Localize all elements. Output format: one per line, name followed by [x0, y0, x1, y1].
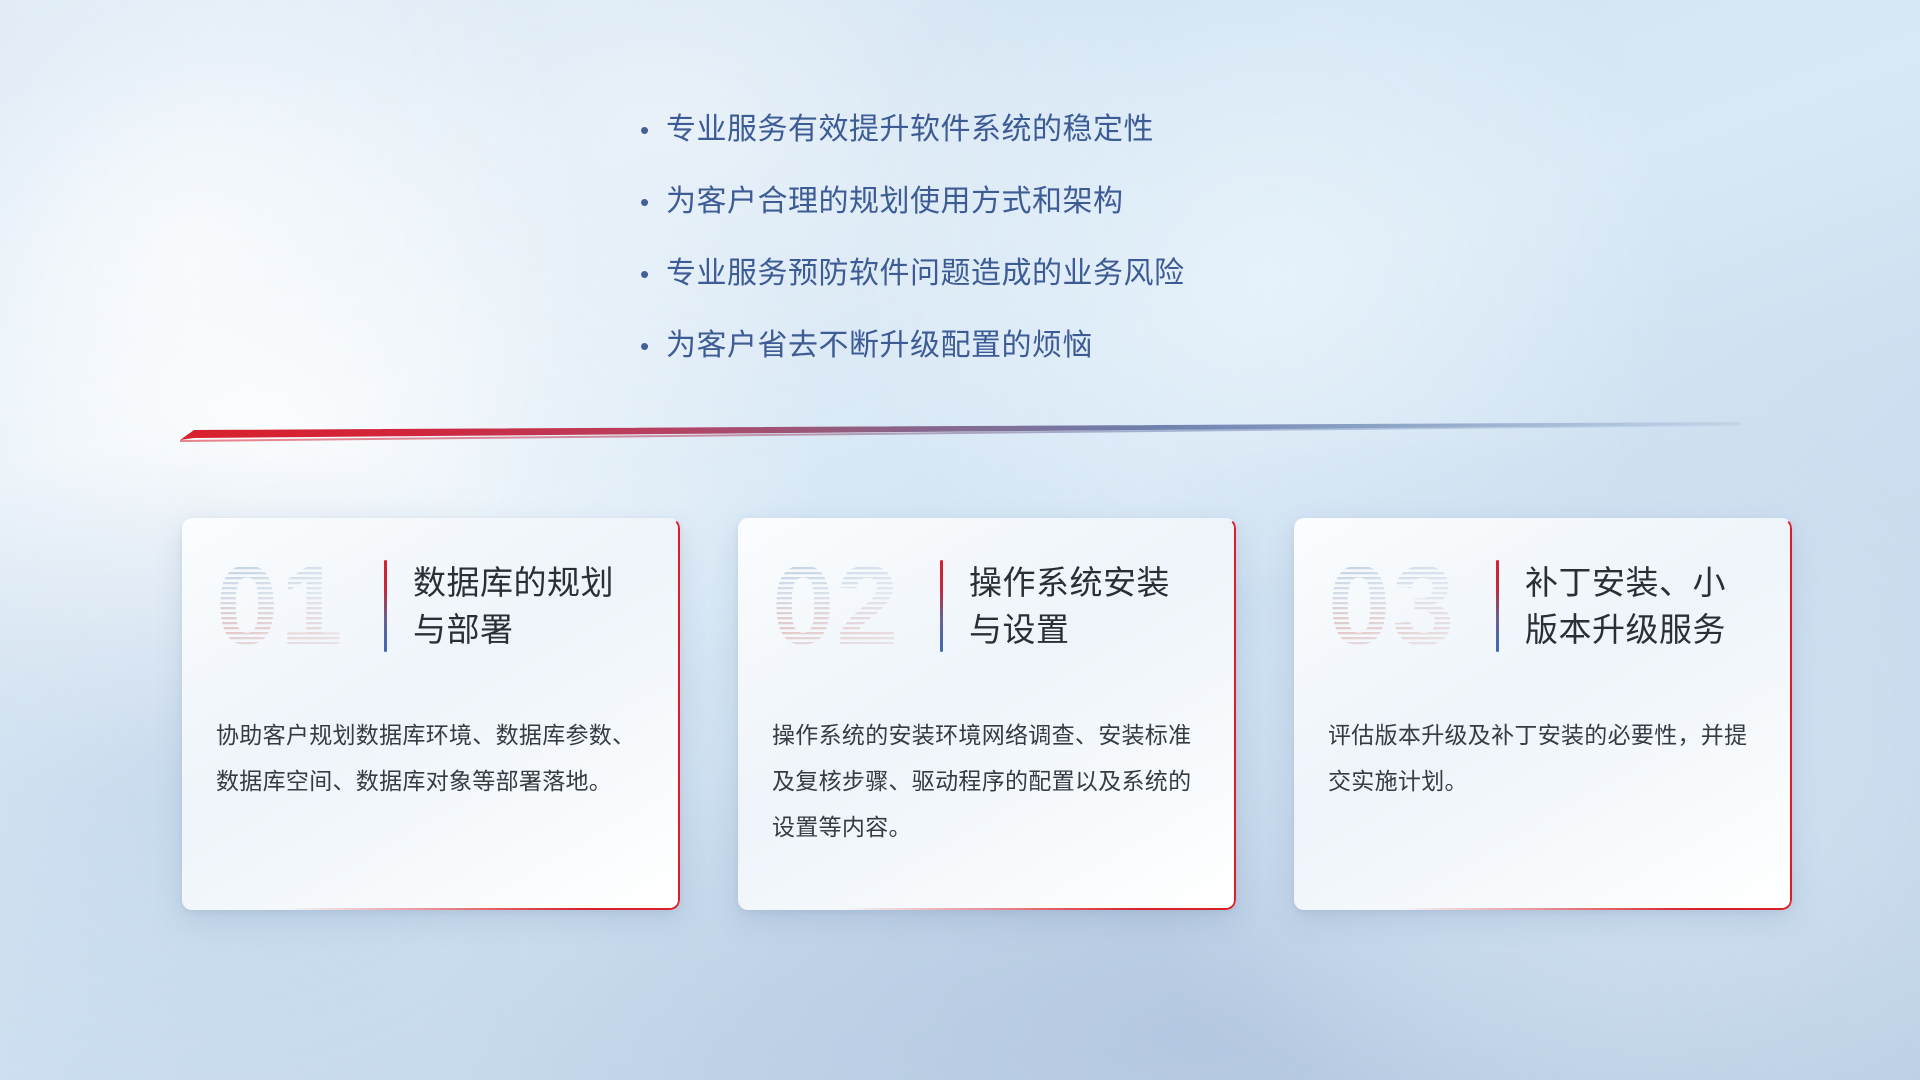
card-title: 数据库的规划 与部署: [413, 559, 614, 653]
service-card-03[interactable]: 03 补丁安装、小 版本升级服务 评估版本升级及补丁安装的必要性，并提交实施计划…: [1294, 518, 1792, 910]
card-gradient-bar: [940, 560, 943, 652]
card-description: 评估版本升级及补丁安装的必要性，并提交实施计划。: [1294, 712, 1792, 804]
svg-text:01: 01: [216, 552, 345, 660]
bullet-text-2: 为客户合理的规划使用方式和架构: [666, 180, 1124, 224]
card-title-line-2: 与部署: [413, 606, 614, 653]
list-item: • 为客户合理的规划使用方式和架构: [640, 180, 1460, 224]
service-card-list: 01 数据库的规划 与部署 协助客户规划数据库环境、数据库参数、数据库空间、数据…: [182, 518, 1792, 918]
benefits-bullet-list: • 专业服务有效提升软件系统的稳定性 • 为客户合理的规划使用方式和架构 • 专…: [640, 108, 1460, 396]
card-header: 03 补丁安装、小 版本升级服务: [1294, 518, 1792, 694]
card-title-line-1: 数据库的规划: [413, 559, 614, 606]
svg-text:02: 02: [772, 552, 901, 660]
svg-text:03: 03: [1328, 552, 1457, 660]
card-title-line-2: 版本升级服务: [1525, 606, 1726, 653]
card-title: 操作系统安装 与设置: [969, 559, 1170, 653]
service-card-01[interactable]: 01 数据库的规划 与部署 协助客户规划数据库环境、数据库参数、数据库空间、数据…: [182, 518, 680, 910]
card-title-line-2: 与设置: [969, 606, 1170, 653]
ghost-number-01-icon: 01: [216, 552, 368, 660]
bullet-text-3: 专业服务预防软件问题造成的业务风险: [666, 252, 1185, 296]
card-description: 协助客户规划数据库环境、数据库参数、数据库空间、数据库对象等部署落地。: [182, 712, 680, 804]
list-item: • 专业服务预防软件问题造成的业务风险: [640, 252, 1460, 296]
card-gradient-bar: [384, 560, 387, 652]
list-item: • 为客户省去不断升级配置的烦恼: [640, 324, 1460, 368]
bullet-text-4: 为客户省去不断升级配置的烦恼: [666, 324, 1093, 368]
ghost-number-03-icon: 03: [1328, 552, 1480, 660]
service-card-02[interactable]: 02 操作系统安装 与设置 操作系统的安装环境网络调查、安装标准及复核步骤、驱动…: [738, 518, 1236, 910]
card-title-line-1: 操作系统安装: [969, 559, 1170, 606]
slide-root: • 专业服务有效提升软件系统的稳定性 • 为客户合理的规划使用方式和架构 • 专…: [0, 0, 1920, 1080]
card-description: 操作系统的安装环境网络调查、安装标准及复核步骤、驱动程序的配置以及系统的设置等内…: [738, 712, 1236, 850]
card-header: 02 操作系统安装 与设置: [738, 518, 1236, 694]
card-title-line-1: 补丁安装、小: [1525, 559, 1726, 606]
bullet-text-1: 专业服务有效提升软件系统的稳定性: [666, 108, 1154, 152]
card-gradient-bar: [1496, 560, 1499, 652]
bullet-dot-icon: •: [640, 324, 666, 368]
bullet-dot-icon: •: [640, 108, 666, 152]
bullet-dot-icon: •: [640, 252, 666, 296]
section-divider: [180, 420, 1740, 446]
card-header: 01 数据库的规划 与部署: [182, 518, 680, 694]
list-item: • 专业服务有效提升软件系统的稳定性: [640, 108, 1460, 152]
bullet-dot-icon: •: [640, 180, 666, 224]
card-title: 补丁安装、小 版本升级服务: [1525, 559, 1726, 653]
ghost-number-02-icon: 02: [772, 552, 924, 660]
